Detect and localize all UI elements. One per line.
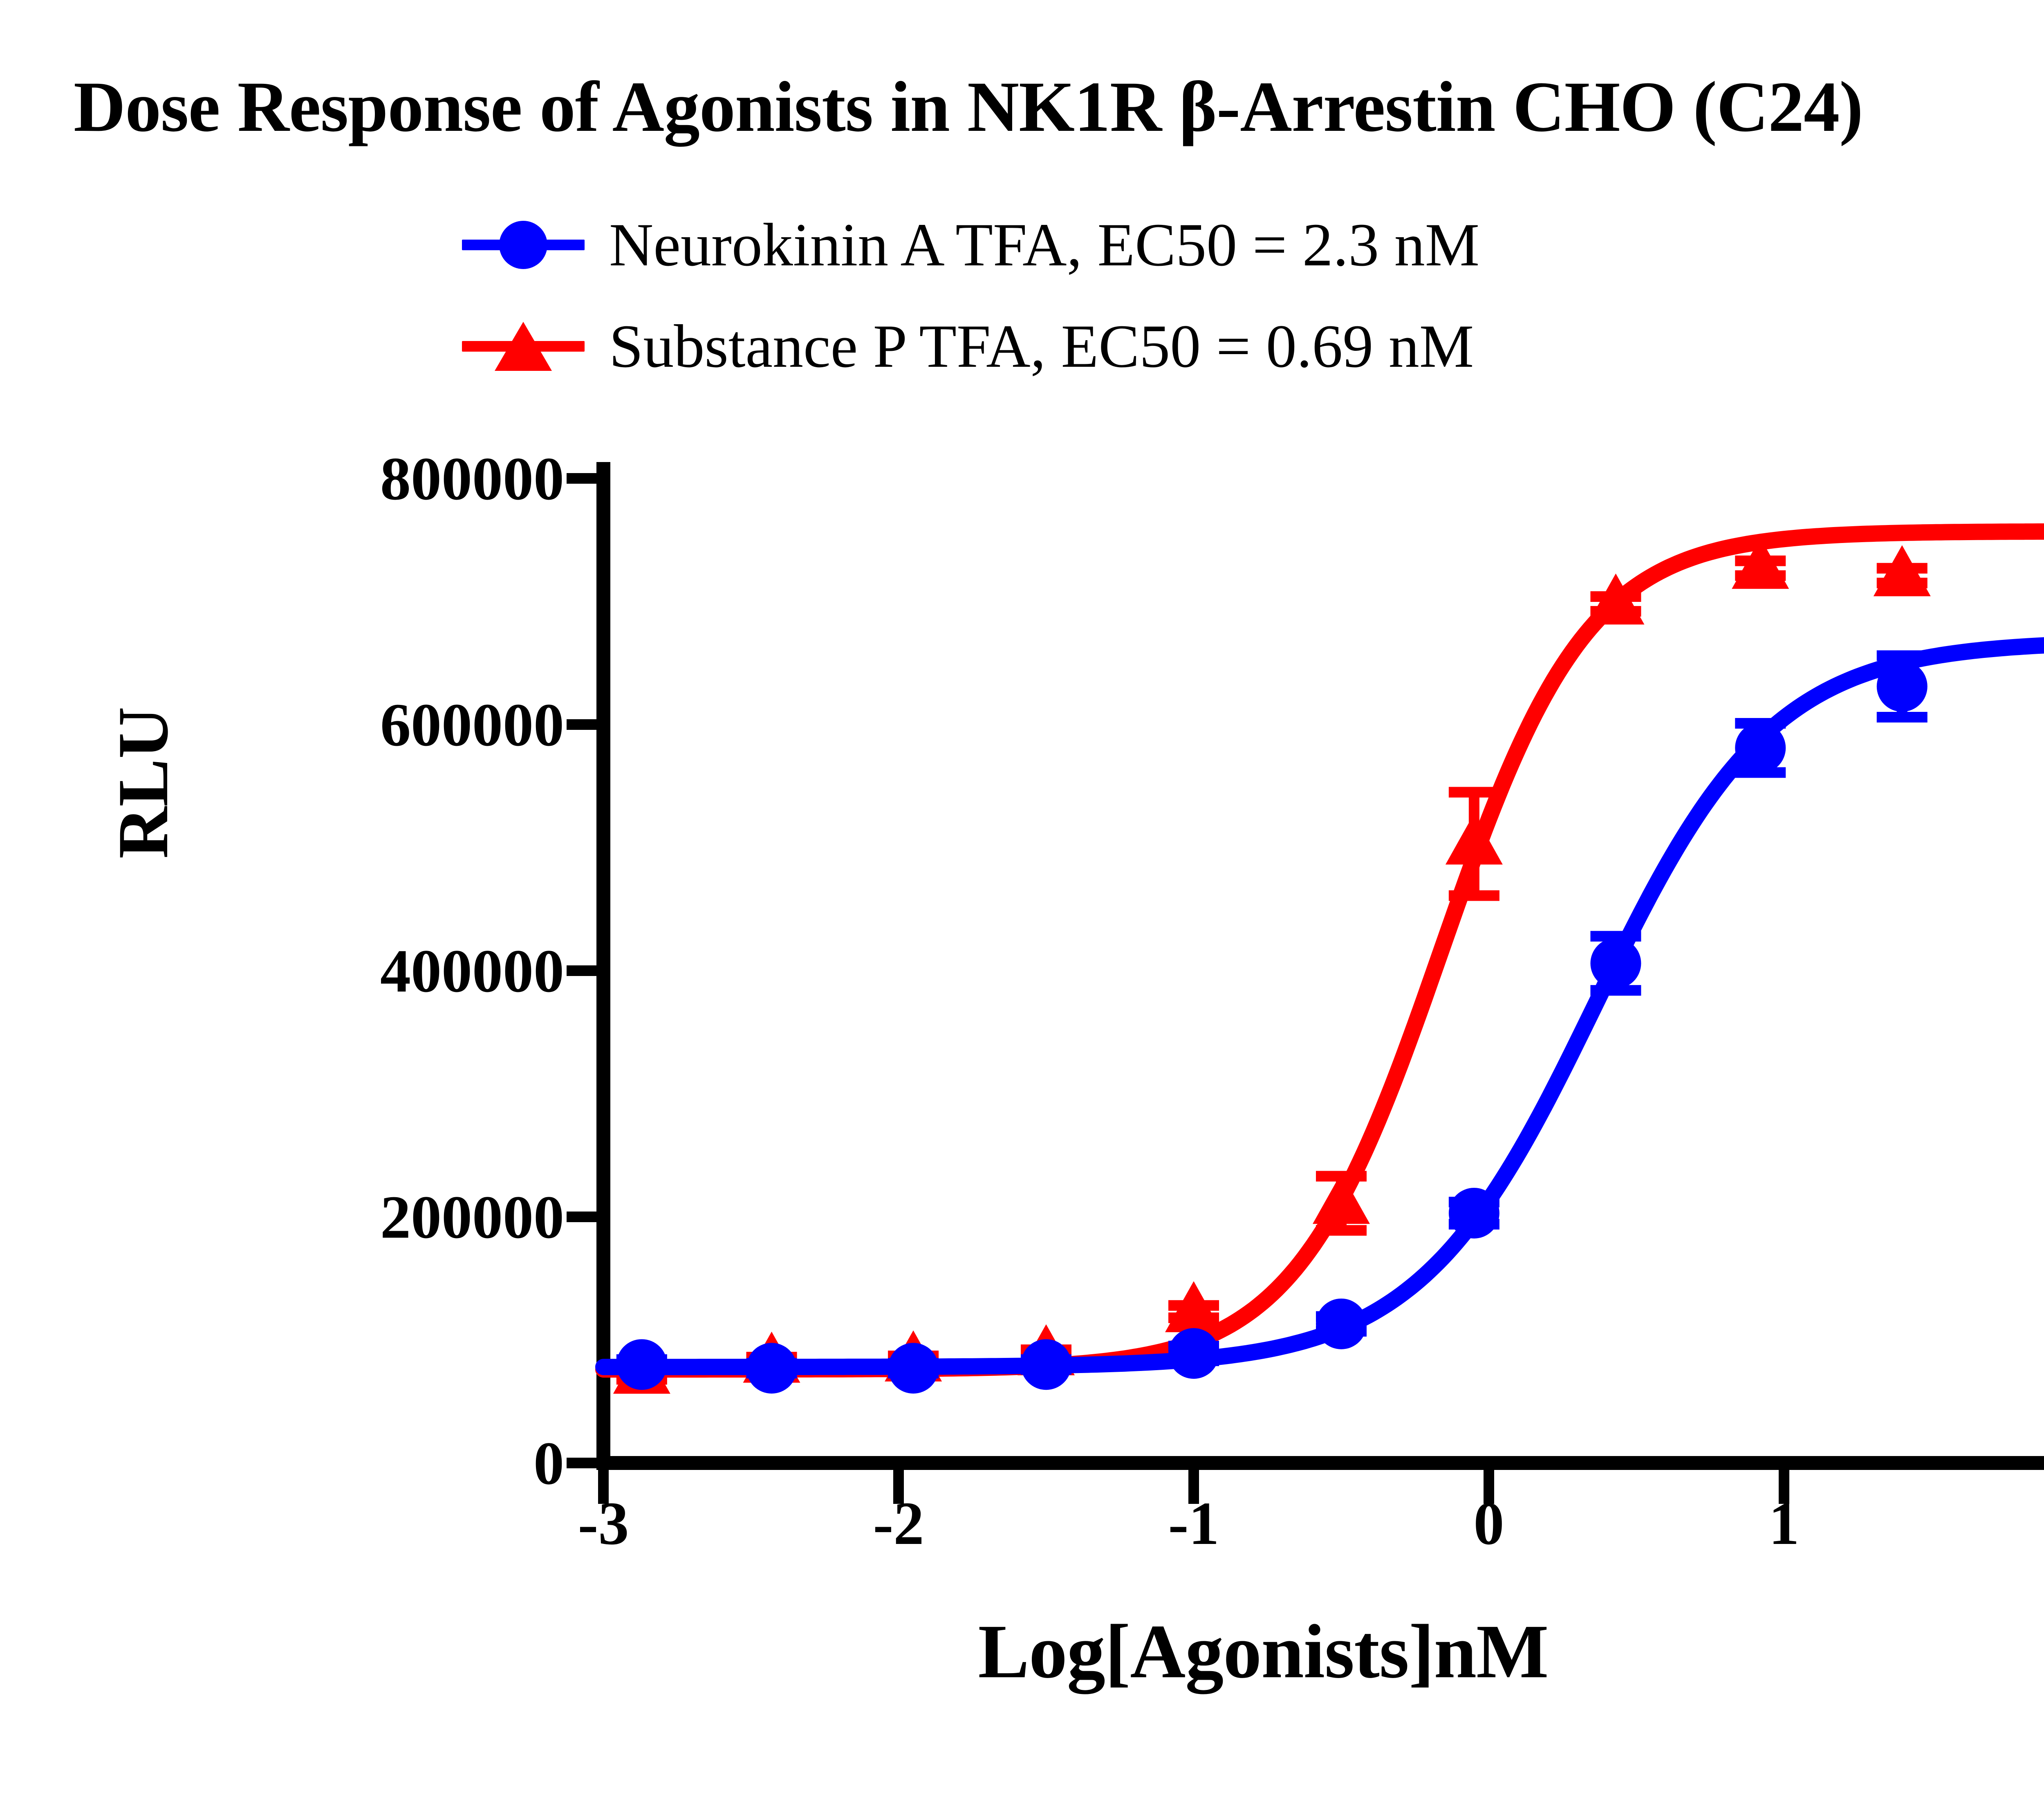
data-point-circle xyxy=(1316,1299,1367,1349)
data-point-circle xyxy=(1590,938,1641,989)
data-point-circle xyxy=(616,1339,667,1390)
plot-area xyxy=(0,0,2044,1795)
data-point-circle xyxy=(1449,1188,1499,1239)
chart-figure: Dose Response of Agonists in NK1R β-Arre… xyxy=(0,0,2044,1795)
fit-curve xyxy=(603,644,2044,1367)
data-point-circle xyxy=(1877,661,1927,712)
data-point-circle xyxy=(1735,722,1786,773)
fit-curve xyxy=(603,532,2044,1369)
data-point-circle xyxy=(1168,1328,1219,1379)
data-point-circle xyxy=(1021,1339,1071,1390)
data-point-circle xyxy=(746,1343,797,1393)
series-neurokinin-a xyxy=(603,628,2044,1393)
series-substance-p xyxy=(603,452,2044,1394)
data-point-circle xyxy=(888,1343,939,1393)
